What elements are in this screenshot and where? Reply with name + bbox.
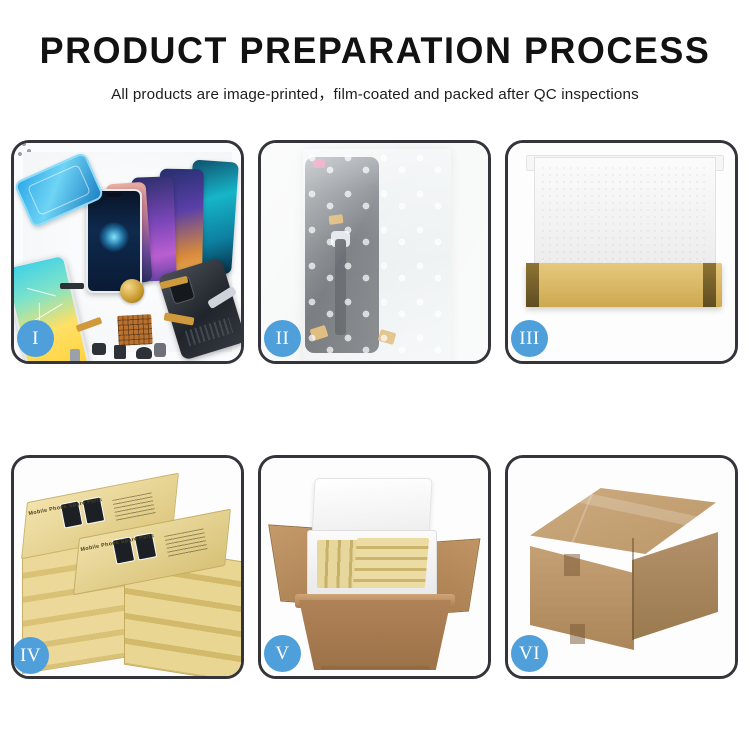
chip-array-icon (117, 314, 153, 346)
process-step-grid: I II (11, 140, 739, 679)
tray-side-left (526, 263, 539, 307)
page-title: PRODUCT PREPARATION PROCESS (11, 32, 739, 71)
process-step-4: Mobile Phone Spare Parts Mobile Phone Sp… (11, 455, 244, 679)
component-icon (70, 349, 80, 361)
component-icon (60, 283, 84, 289)
process-step-2: II (258, 140, 491, 364)
component-icon (92, 343, 106, 355)
process-step-6: VI (505, 455, 738, 679)
phone-display-front-icon (86, 189, 142, 293)
component-icon (114, 345, 126, 359)
notch-icon (106, 193, 122, 197)
step-badge-4: IV (12, 637, 49, 674)
foam-padding (540, 165, 708, 271)
gold-box-tray (526, 263, 722, 307)
product-preparation-infographic: PRODUCT PREPARATION PROCESS All products… (0, 0, 750, 750)
process-step-1: I (11, 140, 244, 364)
gold-boxes-inside (353, 538, 429, 588)
carton-edge (632, 538, 634, 640)
step-badge-6: VI (511, 635, 548, 672)
step-badge-3: III (511, 320, 548, 357)
process-step-5: V (258, 455, 491, 679)
component-icon (154, 343, 166, 357)
tray-side-right (703, 263, 716, 307)
process-step-3: III (505, 140, 738, 364)
carton-crease (321, 666, 429, 669)
header: PRODUCT PREPARATION PROCESS All products… (0, 0, 750, 104)
component-icon (136, 347, 152, 359)
speaker-coil-icon (120, 279, 144, 303)
carton-tab (564, 554, 580, 576)
step-badge-2: II (264, 320, 301, 357)
crack-line-icon (27, 288, 56, 297)
page-subtitle: All products are image-printed，film-coat… (0, 82, 750, 104)
step-4-image: Mobile Phone Spare Parts Mobile Phone Sp… (14, 458, 241, 676)
carton-body (299, 600, 451, 670)
step-badge-5: V (264, 635, 301, 672)
carton-tab (570, 624, 585, 644)
step-badge-1: I (17, 320, 54, 357)
foam-box-lid (311, 478, 432, 538)
